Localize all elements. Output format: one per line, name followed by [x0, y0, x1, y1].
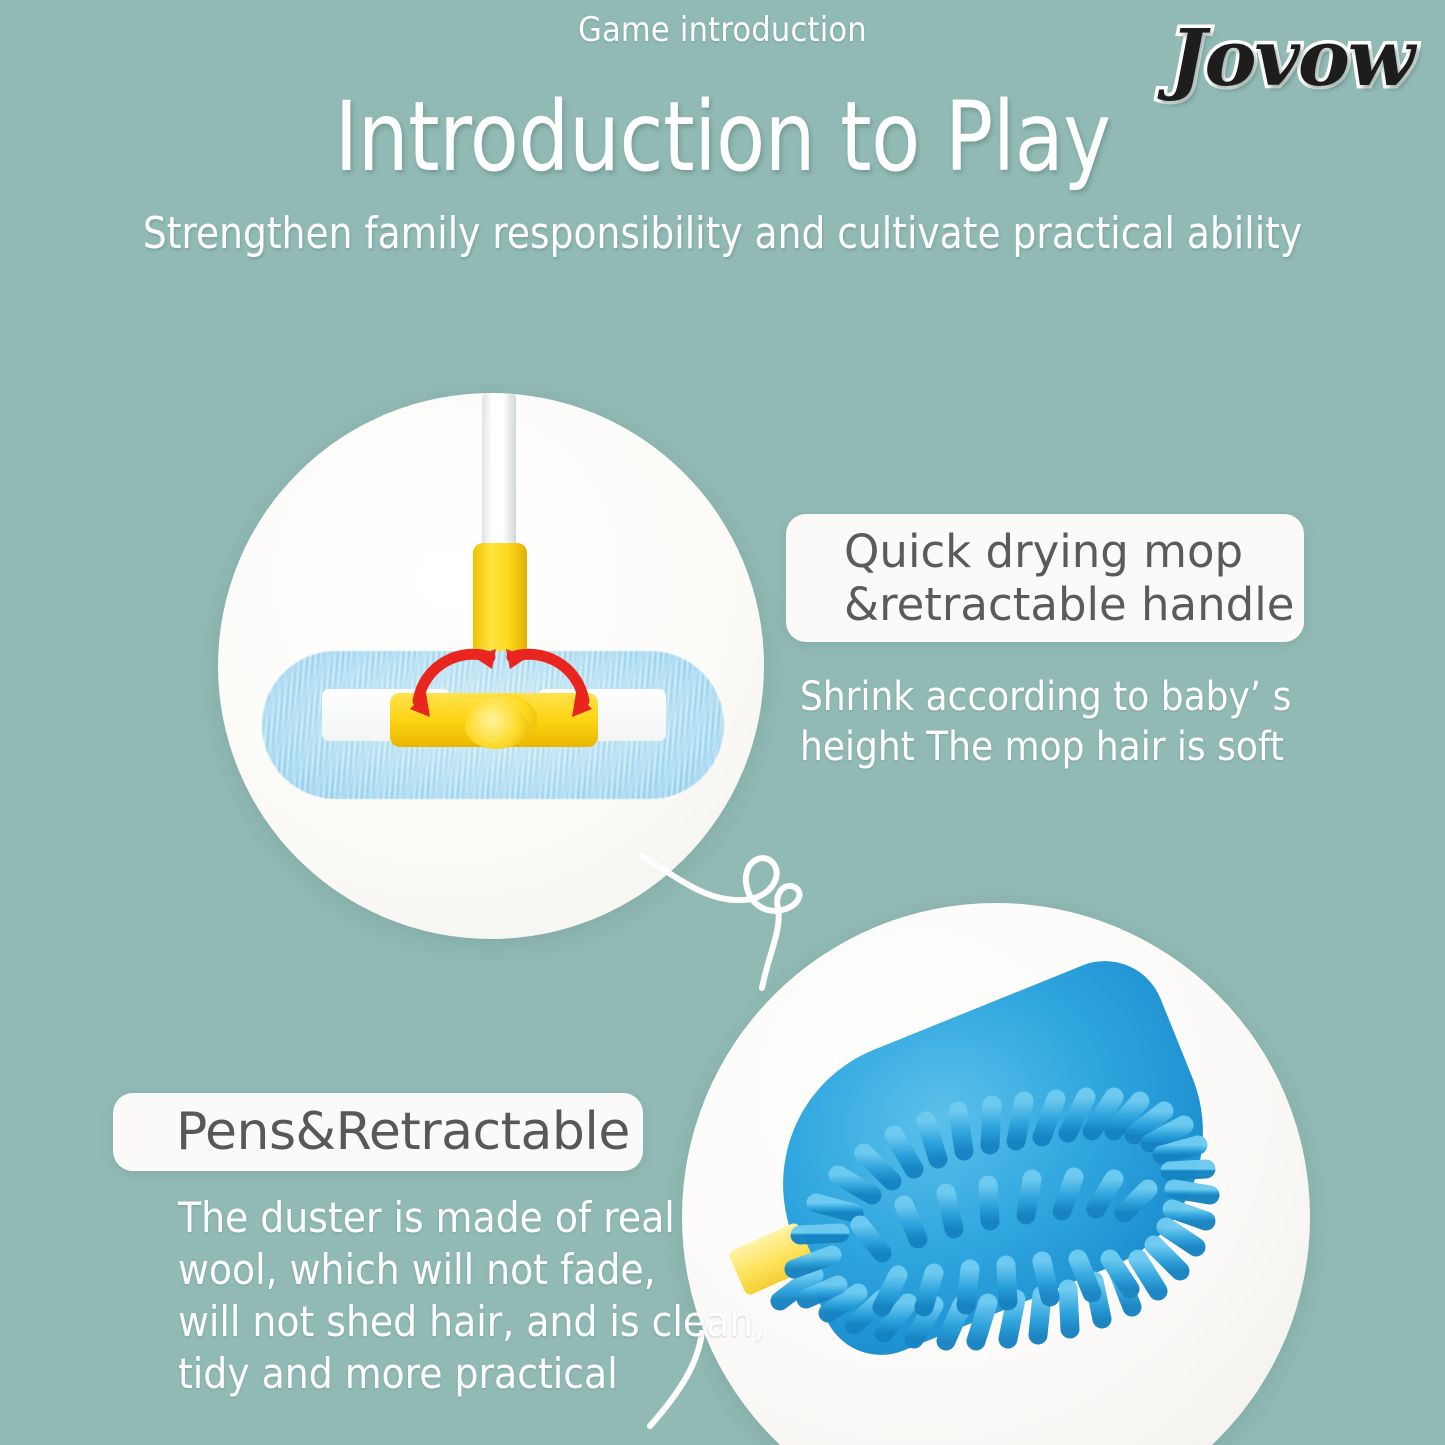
product-infographic-page: Game introduction Introduction to Play S… — [0, 0, 1445, 1445]
feature-pill-duster[interactable]: Pens&Retractable — [113, 1093, 643, 1171]
brand-logo: Jovow — [1113, 14, 1413, 104]
mop-collar — [473, 543, 527, 659]
feature-body-mop: Shrink according to baby’ s height The m… — [800, 672, 1360, 772]
feature-pill-mop[interactable]: Quick drying mop &retractable handle — [786, 514, 1304, 642]
feature-pill-duster-label: Pens&Retractable — [176, 1103, 630, 1161]
mop-pole — [482, 393, 516, 561]
page-subtitle: Strengthen family responsibility and cul… — [36, 205, 1409, 262]
feature-body-duster: The duster is made of real wool, which w… — [178, 1192, 778, 1400]
feature-pill-mop-label: Quick drying mop &retractable handle — [844, 525, 1294, 631]
brand-logo-text: Jovow — [1113, 14, 1413, 104]
rotation-arrow-right-icon — [488, 643, 598, 729]
